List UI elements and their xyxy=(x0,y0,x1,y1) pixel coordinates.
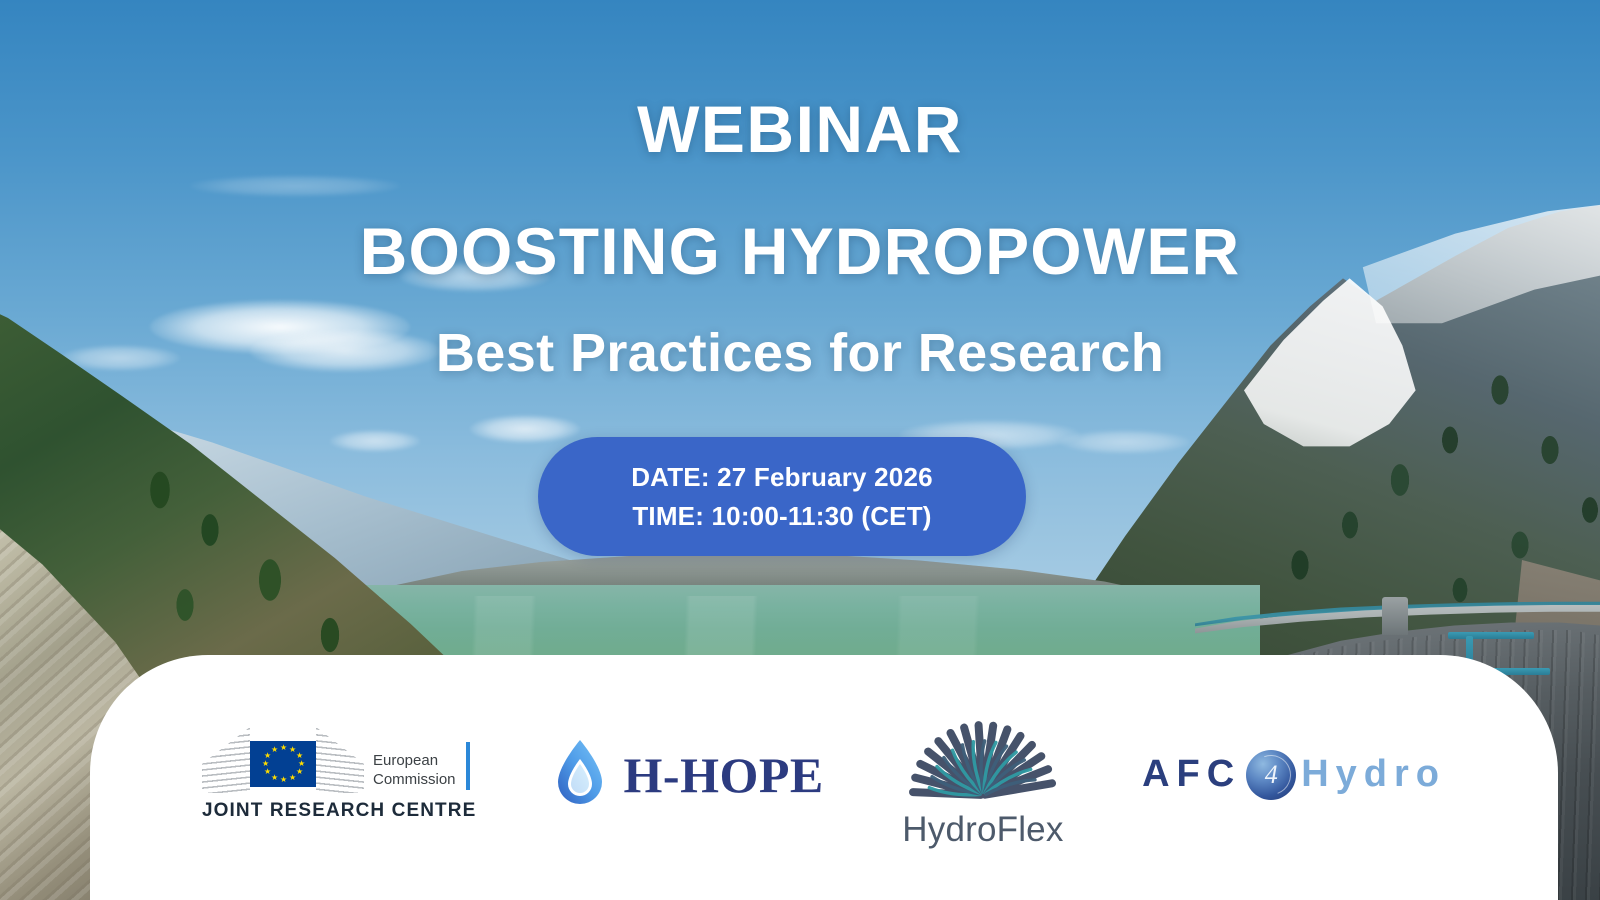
eu-wordmark-line1: European xyxy=(373,752,456,770)
logo-h-hope[interactable]: H-HOPE xyxy=(552,737,824,812)
headline-subtitle: Best Practices for Research xyxy=(0,326,1600,380)
turbine-arc-icon xyxy=(899,699,1067,808)
afc-sphere-number: 4 xyxy=(1265,762,1278,788)
logo-european-commission-jrc[interactable]: ★ ★ ★ ★ ★ ★ ★ ★ ★ ★ ★ ★ European Commiss… xyxy=(202,727,476,822)
water-droplet-icon xyxy=(552,737,608,812)
eu-wordmark-line2: Commission xyxy=(373,771,456,789)
eu-swoosh-right-icon xyxy=(316,727,364,793)
hydroflex-wordmark: HydroFlex xyxy=(902,810,1063,850)
event-time: TIME: 10:00-11:30 (CET) xyxy=(632,501,931,532)
afc-sphere-icon: 4 xyxy=(1246,750,1296,800)
event-details-badge: DATE: 27 February 2026 TIME: 10:00-11:30… xyxy=(538,437,1026,556)
eu-flag-icon: ★ ★ ★ ★ ★ ★ ★ ★ ★ ★ ★ ★ xyxy=(250,741,316,787)
eu-wordmark: European Commission xyxy=(373,727,456,793)
event-date: DATE: 27 February 2026 xyxy=(631,462,933,493)
logo-hydroflex[interactable]: HydroFlex xyxy=(899,699,1067,850)
h-hope-wordmark: H-HOPE xyxy=(624,746,824,804)
afc-suffix: Hydro xyxy=(1301,753,1446,796)
afc-prefix: AFC xyxy=(1142,753,1241,796)
headline-title: BOOSTING HYDROPOWER xyxy=(0,218,1600,284)
webinar-poster: WEBINAR BOOSTING HYDROPOWER Best Practic… xyxy=(0,0,1600,900)
headline-kicker: WEBINAR xyxy=(0,96,1600,163)
eu-logo-top-row: ★ ★ ★ ★ ★ ★ ★ ★ ★ ★ ★ ★ European Commiss… xyxy=(202,727,470,793)
dam-gantry-beam xyxy=(1448,632,1534,639)
logo-afc4hydro[interactable]: AFC 4 Hydro xyxy=(1142,750,1446,800)
eu-accent-bar xyxy=(466,742,470,790)
headline-block: WEBINAR BOOSTING HYDROPOWER Best Practic… xyxy=(0,96,1600,380)
jrc-label: JOINT RESEARCH CENTRE xyxy=(202,800,476,822)
eu-swoosh-left-icon xyxy=(202,727,250,793)
partner-logo-panel: ★ ★ ★ ★ ★ ★ ★ ★ ★ ★ ★ ★ European Commiss… xyxy=(90,655,1558,900)
dam-control-tower xyxy=(1382,597,1408,635)
